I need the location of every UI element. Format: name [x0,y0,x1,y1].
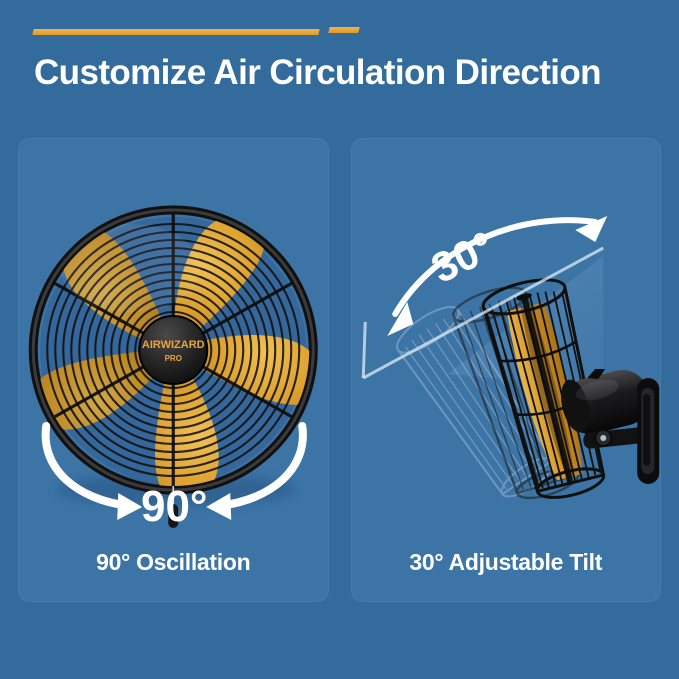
infographic-page: Customize Air Circulation Direction [0,0,679,679]
card-oscillation: AIRWIZARD PRO 90° [18,138,329,602]
fan-tilt-illustration: 30° [351,138,662,536]
oscillation-angle-label: 90° [141,482,208,531]
oscillation-stage: AIRWIZARD PRO 90° [18,138,329,536]
fan-front-illustration: AIRWIZARD PRO 90° [18,138,329,536]
card-tilt: 30° 30° Adjustable Tilt [351,138,662,602]
page-title: Customize Air Circulation Direction [34,52,654,94]
tilt-stage: 30° [351,138,662,536]
accent-rule-dash [328,27,359,33]
accent-rule-long [32,29,319,35]
card-tilt-caption: 30° Adjustable Tilt [351,549,662,576]
hub-logo-secondary: PRO [165,354,182,363]
accent-rule [33,26,353,38]
card-oscillation-caption: 90° Oscillation [18,549,329,576]
feature-cards: AIRWIZARD PRO 90° [18,138,661,602]
hub-logo-primary: AIRWIZARD [142,339,205,351]
